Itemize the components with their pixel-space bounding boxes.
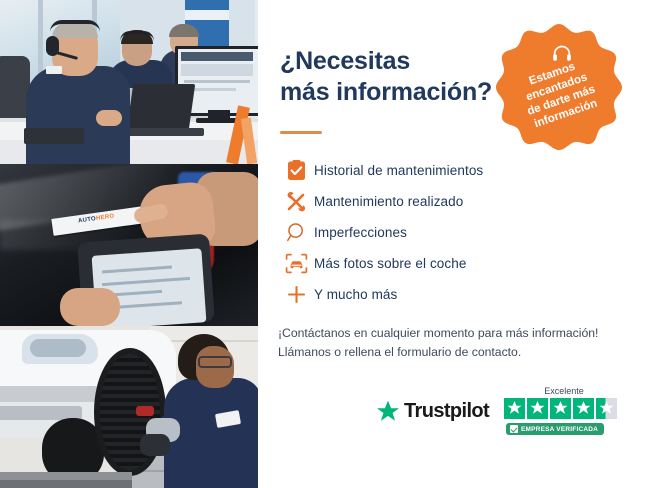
- agent-name-badge: [46, 66, 62, 74]
- trustpilot-star-icon: [376, 400, 400, 423]
- agent-foreground-hand: [96, 110, 122, 126]
- mechanic-glove-2: [140, 434, 170, 456]
- magnifier-icon: [278, 218, 314, 248]
- verified-check-icon: [510, 425, 518, 433]
- star-rating: [504, 398, 636, 419]
- car-photo-frame-icon: [278, 249, 314, 279]
- car-inspection-ruler-photo: AUTOHERO: [0, 164, 258, 326]
- headset-icon: [552, 44, 572, 62]
- verified-company-label: EMPRESA VERIFICADA: [521, 426, 598, 433]
- feature-label: Historial de mantenimientos: [314, 163, 483, 178]
- agent-foreground-headset-band: [50, 20, 100, 32]
- agent-background-hair: [169, 24, 199, 37]
- feature-item-fotos: Más fotos sobre el coche: [278, 248, 548, 279]
- star-3: [550, 398, 571, 419]
- trustpilot-wordmark: Trustpilot: [404, 400, 489, 423]
- desk-tablet: [24, 128, 84, 144]
- feature-item-mucho-mas: Y mucho más: [278, 279, 548, 310]
- mechanic-tool: [136, 406, 154, 416]
- monitor-screen-row: [181, 64, 253, 76]
- trustpilot-logo[interactable]: Trustpilot: [376, 400, 489, 423]
- car-lift-shadow: [0, 480, 132, 488]
- heading-line-2: más información?: [280, 77, 530, 108]
- verified-company-badge: EMPRESA VERIFICADA: [506, 423, 604, 435]
- star-4: [573, 398, 594, 419]
- title-underline-divider: [280, 131, 322, 134]
- clipboard-check-icon: [278, 156, 314, 186]
- information-banner: AUTOHERO: [0, 0, 650, 488]
- feature-item-imperfecciones: Imperfecciones: [278, 217, 548, 248]
- star-1: [504, 398, 525, 419]
- trustpilot-rating: Trustpilot Excelente: [376, 386, 636, 448]
- photo-collage: AUTOHERO: [0, 0, 258, 488]
- laptop-screen: [127, 84, 195, 130]
- plus-icon: [278, 280, 314, 310]
- feature-item-historial: Historial de mantenimientos: [278, 155, 548, 186]
- crossed-tools-icon: [278, 187, 314, 217]
- star-2: [527, 398, 548, 419]
- paragraph-line-2: Llámanos o rellena el formulario de cont…: [278, 343, 628, 362]
- call-center-agents-photo: [0, 0, 258, 164]
- star-5-partial: [596, 398, 617, 419]
- mechanic-figure: [164, 334, 258, 488]
- feature-label: Y mucho más: [314, 287, 397, 302]
- heading-line-1: ¿Necesitas: [280, 46, 530, 77]
- trustpilot-score: Excelente: [504, 386, 636, 438]
- inspector-hand-holding-tablet: [60, 288, 120, 326]
- page-title: ¿Necesitas más información?: [280, 46, 530, 107]
- contact-paragraph: ¡Contáctanos en cualquier momento para m…: [278, 324, 628, 362]
- mechanic-wheel-photo: [0, 326, 258, 488]
- monitor-screen-line: [184, 80, 250, 83]
- feature-list: Historial de mantenimientos Mantenimient…: [278, 155, 548, 310]
- monitor-screen-header: [181, 52, 253, 61]
- safety-glasses-icon: [198, 356, 232, 368]
- rating-label: Excelente: [506, 386, 622, 396]
- promo-starburst-badge: Estamos encantados de darte más informac…: [494, 22, 624, 152]
- content-panel: ¿Necesitas más información? Estamos enca…: [258, 0, 650, 488]
- feature-item-mantenimiento: Mantenimiento realizado: [278, 186, 548, 217]
- poster-highlight: [185, 10, 229, 20]
- laptop-keyboard: [120, 128, 204, 136]
- feature-label: Mantenimiento realizado: [314, 194, 463, 209]
- paragraph-line-1: ¡Contáctanos en cualquier momento para m…: [278, 324, 628, 343]
- feature-label: Imperfecciones: [314, 225, 407, 240]
- feature-label: Más fotos sobre el coche: [314, 256, 466, 271]
- car-headlight-inner: [30, 339, 86, 357]
- car-grille: [0, 386, 98, 402]
